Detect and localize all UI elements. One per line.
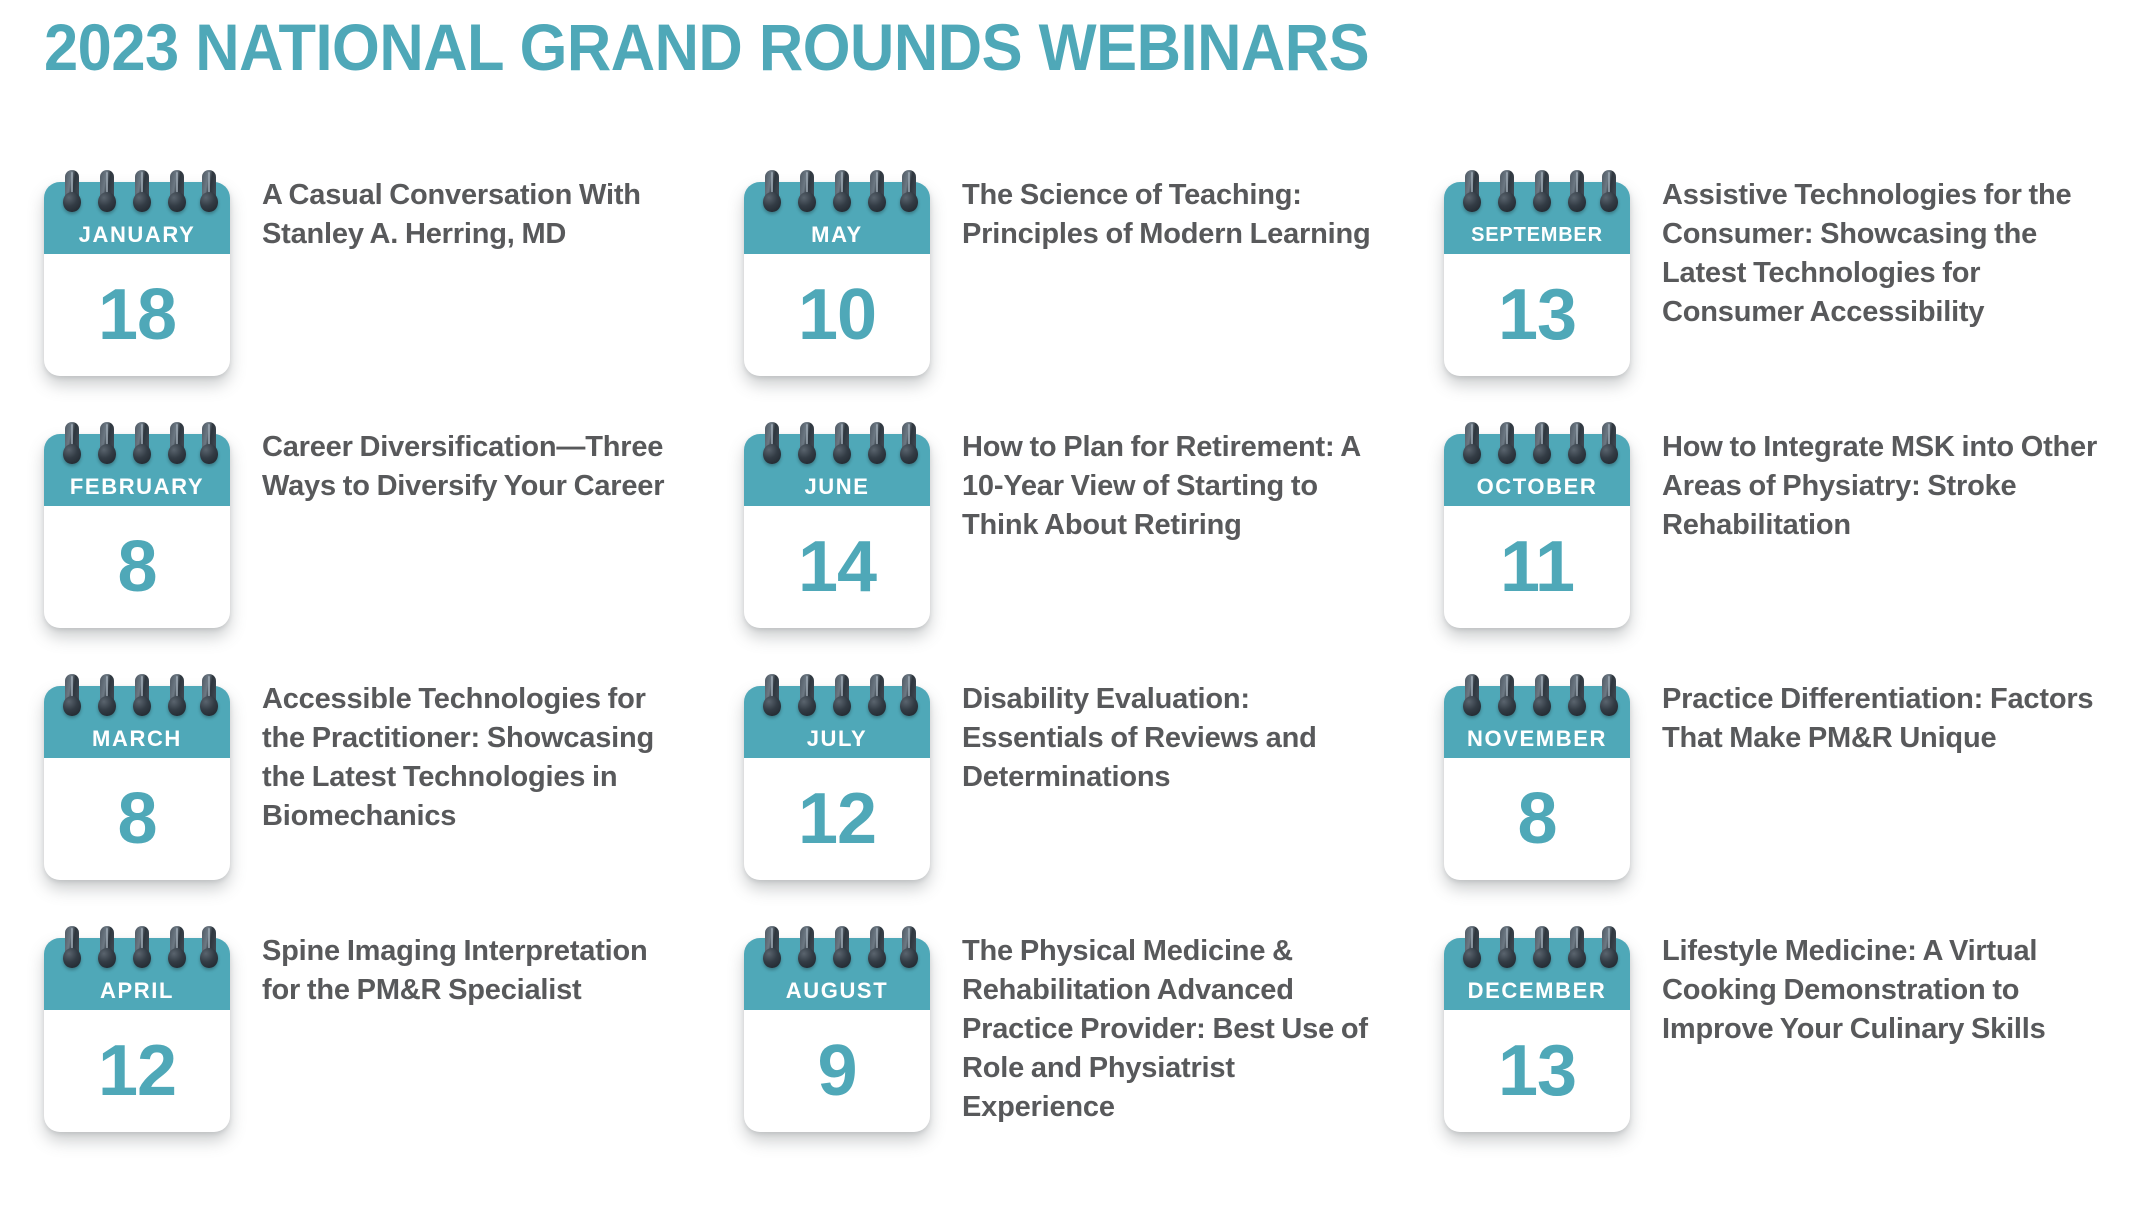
calendar-card: DECEMBER 13	[1444, 938, 1630, 1132]
webinar-entry-november: NOVEMBER 8 Practice Differentiation: Fac…	[1400, 654, 2134, 906]
calendar-body: 8	[1444, 758, 1630, 880]
webinar-entry-march: MARCH 8 Accessible Technologies for the …	[0, 654, 700, 906]
calendar-day-number: 9	[817, 1035, 856, 1107]
calendar-body: 12	[44, 1010, 230, 1132]
calendar-header: JANUARY	[44, 182, 230, 254]
calendar-icon: MARCH 8	[36, 674, 238, 882]
calendar-day-number: 12	[798, 783, 876, 855]
calendar-card: JULY 12	[744, 686, 930, 880]
calendar-card: APRIL 12	[44, 938, 230, 1132]
calendar-month-label: JULY	[807, 727, 868, 751]
calendar-card: AUGUST 9	[744, 938, 930, 1132]
calendar-header: MAY	[744, 182, 930, 254]
webinar-title: Assistive Technologies for the Consumer:…	[1662, 176, 2134, 332]
calendar-header: SEPTEMBER	[1444, 182, 1630, 254]
calendar-card: OCTOBER 11	[1444, 434, 1630, 628]
calendar-card: JANUARY 18	[44, 182, 230, 376]
calendar-card: NOVEMBER 8	[1444, 686, 1630, 880]
calendar-day-number: 18	[98, 279, 176, 351]
webinar-title: A Casual Conversation With Stanley A. He…	[262, 176, 700, 254]
calendar-icon: JANUARY 18	[36, 170, 238, 378]
calendar-icon: JULY 12	[736, 674, 938, 882]
webinar-entry-june: JUNE 14 How to Plan for Retirement: A 10…	[700, 402, 1400, 654]
calendar-day-number: 8	[1517, 783, 1556, 855]
calendar-day-number: 13	[1498, 279, 1576, 351]
calendar-month-label: DECEMBER	[1468, 979, 1607, 1003]
calendar-icon: FEBRUARY 8	[36, 422, 238, 630]
webinar-title: Practice Differentiation: Factors That M…	[1662, 680, 2134, 758]
calendar-header: DECEMBER	[1444, 938, 1630, 1010]
page-title: 2023 NATIONAL GRAND ROUNDS WEBINARS	[44, 8, 1369, 86]
webinar-title: How to Integrate MSK into Other Areas of…	[1662, 428, 2134, 545]
calendar-body: 13	[1444, 1010, 1630, 1132]
calendar-header: JUNE	[744, 434, 930, 506]
webinar-title: The Science of Teaching: Principles of M…	[962, 176, 1400, 254]
webinar-entry-april: APRIL 12 Spine Imaging Interpretation fo…	[0, 906, 700, 1166]
calendar-header: APRIL	[44, 938, 230, 1010]
webinar-title: Disability Evaluation: Essentials of Rev…	[962, 680, 1400, 797]
calendar-icon: APRIL 12	[36, 926, 238, 1134]
calendar-day-number: 8	[117, 531, 156, 603]
calendar-card: FEBRUARY 8	[44, 434, 230, 628]
webinar-title: The Physical Medicine & Rehabilitation A…	[962, 932, 1400, 1127]
calendar-header: MARCH	[44, 686, 230, 758]
calendar-day-number: 12	[98, 1035, 176, 1107]
calendar-icon: JUNE 14	[736, 422, 938, 630]
calendar-day-number: 8	[117, 783, 156, 855]
calendar-card: MAY 10	[744, 182, 930, 376]
calendar-month-label: SEPTEMBER	[1471, 223, 1603, 247]
webinar-entry-july: JULY 12 Disability Evaluation: Essential…	[700, 654, 1400, 906]
webinar-entry-august: AUGUST 9 The Physical Medicine & Rehabil…	[700, 906, 1400, 1166]
calendar-header: FEBRUARY	[44, 434, 230, 506]
calendar-month-label: JUNE	[804, 475, 869, 499]
calendar-icon: AUGUST 9	[736, 926, 938, 1134]
calendar-month-label: AUGUST	[786, 979, 889, 1003]
calendar-body: 8	[44, 758, 230, 880]
calendar-day-number: 13	[1498, 1035, 1576, 1107]
calendar-day-number: 14	[798, 531, 876, 603]
webinar-entry-february: FEBRUARY 8 Career Diversification—Three …	[0, 402, 700, 654]
calendar-body: 9	[744, 1010, 930, 1132]
calendar-icon: OCTOBER 11	[1436, 422, 1638, 630]
webinar-title: Career Diversification—Three Ways to Div…	[262, 428, 700, 506]
calendar-month-label: OCTOBER	[1477, 475, 1598, 499]
webinar-entry-september: SEPTEMBER 13 Assistive Technologies for …	[1400, 150, 2134, 402]
calendar-header: OCTOBER	[1444, 434, 1630, 506]
calendar-month-label: MARCH	[92, 727, 182, 751]
calendar-body: 12	[744, 758, 930, 880]
calendar-month-label: NOVEMBER	[1467, 727, 1607, 751]
calendar-icon: MAY 10	[736, 170, 938, 378]
webinar-entry-october: OCTOBER 11 How to Integrate MSK into Oth…	[1400, 402, 2134, 654]
calendar-body: 10	[744, 254, 930, 376]
calendar-header: AUGUST	[744, 938, 930, 1010]
calendar-header: JULY	[744, 686, 930, 758]
calendar-body: 11	[1444, 506, 1630, 628]
webinar-title: Lifestyle Medicine: A Virtual Cooking De…	[1662, 932, 2134, 1049]
webinar-title: How to Plan for Retirement: A 10-Year Vi…	[962, 428, 1400, 545]
calendar-card: JUNE 14	[744, 434, 930, 628]
webinar-entry-may: MAY 10 The Science of Teaching: Principl…	[700, 150, 1400, 402]
calendar-day-number: 11	[1500, 531, 1574, 603]
webinar-grid: JANUARY 18 A Casual Conversation With St…	[0, 150, 2134, 1166]
calendar-month-label: MAY	[811, 223, 863, 247]
webinar-title: Accessible Technologies for the Practiti…	[262, 680, 700, 836]
calendar-body: 13	[1444, 254, 1630, 376]
calendar-day-number: 10	[798, 279, 876, 351]
webinar-entry-january: JANUARY 18 A Casual Conversation With St…	[0, 150, 700, 402]
calendar-icon: NOVEMBER 8	[1436, 674, 1638, 882]
calendar-body: 18	[44, 254, 230, 376]
calendar-icon: DECEMBER 13	[1436, 926, 1638, 1134]
calendar-header: NOVEMBER	[1444, 686, 1630, 758]
webinar-title: Spine Imaging Interpretation for the PM&…	[262, 932, 700, 1010]
calendar-month-label: APRIL	[100, 979, 174, 1003]
calendar-body: 8	[44, 506, 230, 628]
calendar-icon: SEPTEMBER 13	[1436, 170, 1638, 378]
webinar-calendar-poster: 2023 NATIONAL GRAND ROUNDS WEBINARS JANU…	[0, 0, 2134, 1222]
calendar-card: SEPTEMBER 13	[1444, 182, 1630, 376]
webinar-entry-december: DECEMBER 13 Lifestyle Medicine: A Virtua…	[1400, 906, 2134, 1166]
calendar-month-label: JANUARY	[79, 223, 196, 247]
calendar-card: MARCH 8	[44, 686, 230, 880]
calendar-month-label: FEBRUARY	[70, 475, 204, 499]
calendar-body: 14	[744, 506, 930, 628]
